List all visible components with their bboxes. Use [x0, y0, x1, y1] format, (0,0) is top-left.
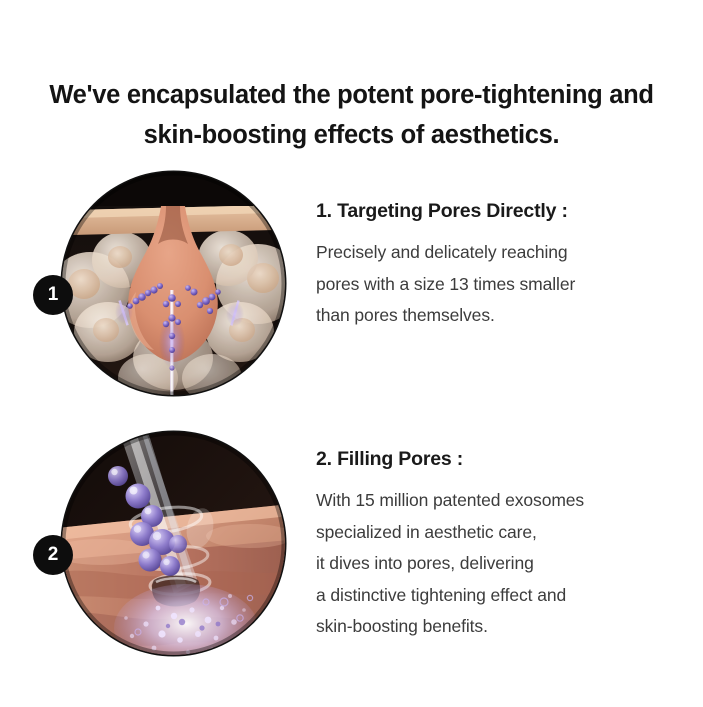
- page-title: We've encapsulated the potent pore-tight…: [0, 75, 703, 155]
- step-1-body-line-1: Precisely and delicately reaching: [316, 237, 688, 269]
- step-1-body-line-2: pores with a size 13 times smaller: [316, 269, 688, 301]
- step-2-body-line-1: With 15 million patented exosomes: [316, 485, 688, 517]
- step-2-body-line-3: it dives into pores, delivering: [316, 548, 688, 580]
- step-1-copy: 1. Targeting Pores Directly : Precisely …: [316, 198, 688, 332]
- step-number-badge-1: 1: [33, 275, 73, 315]
- page-title-line-2: skin-boosting effects of aesthetics.: [10, 115, 693, 155]
- step-1-media: 1: [62, 172, 285, 395]
- step-1-title: 1. Targeting Pores Directly :: [316, 198, 688, 224]
- pore-closeup-image: [62, 172, 285, 395]
- page-title-line-1: We've encapsulated the potent pore-tight…: [10, 75, 693, 115]
- step-1-section: 1 1. Targeting Pores Directly : Precisel…: [0, 165, 703, 405]
- step-1-body-line-3: than pores themselves.: [316, 300, 688, 332]
- step-2-body: With 15 million patented exosomes specia…: [316, 485, 688, 643]
- step-number-badge-2: 2: [33, 535, 73, 575]
- step-2-body-line-2: specialized in aesthetic care,: [316, 517, 688, 549]
- infographic-page: We've encapsulated the potent pore-tight…: [0, 0, 703, 707]
- exosome-delivery-image: [62, 432, 285, 655]
- step-2-copy: 2. Filling Pores : With 15 million paten…: [316, 446, 688, 643]
- step-2-body-line-4: a distinctive tightening effect and: [316, 580, 688, 612]
- step-2-section: 2 2. Filling Pores : With 15 million pat…: [0, 425, 703, 665]
- step-2-title: 2. Filling Pores :: [316, 446, 688, 472]
- step-2-body-line-5: skin-boosting benefits.: [316, 611, 688, 643]
- step-1-body: Precisely and delicately reaching pores …: [316, 237, 688, 332]
- step-2-media: 2: [62, 432, 285, 655]
